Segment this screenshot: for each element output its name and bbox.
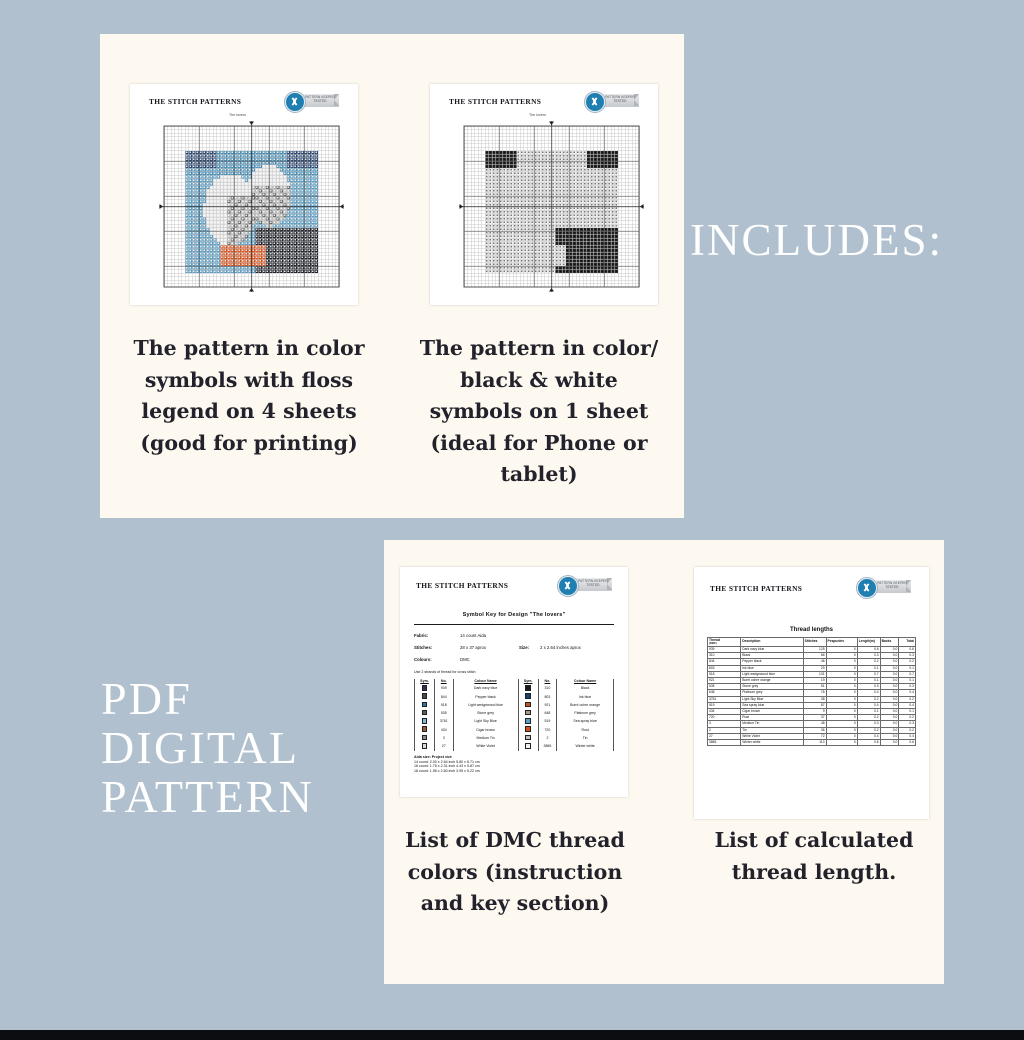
pattern-keeper-tested-badge: PATTERN KEEPERTESTED xyxy=(558,576,612,594)
badge-x-icon xyxy=(585,92,605,112)
poster-stage: THE STITCH PATTERNS PATTERN KEEPERTESTED… xyxy=(0,0,1024,1040)
pdf-line-1: PDF xyxy=(101,674,314,723)
tl-total: 0.6 xyxy=(899,740,916,746)
key-symbol xyxy=(518,685,538,693)
table-row: 939Dark navy blue310Black xyxy=(415,685,614,693)
spec-value-colours: DMC xyxy=(460,657,470,662)
thread-lengths-table: Thread(DMC)DescriptionStitchesPespunlesL… xyxy=(707,637,916,746)
table-row: 518Light wedgewood blue921Burnt ochre or… xyxy=(415,701,614,709)
key-number: 2 xyxy=(538,734,557,742)
tl-pespunles: 0 xyxy=(826,740,857,746)
key-colour-name: Light wedgewood blue xyxy=(453,701,518,709)
symbol-key-table: Sym.No.Colour NameSym.No.Colour Name939D… xyxy=(414,679,614,751)
badge-line2: TESTED xyxy=(885,585,898,589)
sheet-thread-lengths[interactable]: THE STITCH PATTERNS PATTERN KEEPERTESTED… xyxy=(694,567,929,819)
chart-caption: The lovers xyxy=(229,113,246,117)
bw-symbol-chart xyxy=(455,119,645,299)
key-number: 844 xyxy=(434,693,453,701)
spec-label-colours: Colours: xyxy=(414,657,432,662)
sheet-brand-title: THE STITCH PATTERNS xyxy=(416,581,508,590)
table-row: 844Pepper black803Ink blue xyxy=(415,693,614,701)
badge-x-icon xyxy=(857,578,877,598)
chart-caption: The lovers xyxy=(529,113,546,117)
key-symbol xyxy=(415,710,435,718)
spec-label-stitches: Stitches: xyxy=(414,645,432,650)
key-symbol xyxy=(518,701,538,709)
key-number: 939 xyxy=(434,685,453,693)
badge-line1: PATTERN KEEPER xyxy=(578,579,608,583)
key-colour-name: Tin xyxy=(557,734,614,742)
strands-note: Use 2 strands of thread for cross stitch xyxy=(414,670,476,675)
pdf-line-3: PATTERN xyxy=(101,772,314,821)
includes-heading: INCLUDES: xyxy=(690,214,943,266)
spec-value-size: 2 x 2.64 inches aprox xyxy=(540,645,581,650)
key-symbol xyxy=(415,693,435,701)
sheet-bw-symbols[interactable]: THE STITCH PATTERNS PATTERN KEEPERTESTED… xyxy=(430,84,658,305)
key-colour-name: Sea spray blue xyxy=(557,718,614,726)
key-number: 921 xyxy=(538,701,557,709)
key-colour-name: Rust xyxy=(557,726,614,734)
sheet-symbol-key[interactable]: THE STITCH PATTERNS PATTERN KEEPERTESTED… xyxy=(400,567,628,797)
tl-col-header: Description xyxy=(741,638,803,647)
key-colour-name: Dark navy blue xyxy=(453,685,518,693)
key-colour-name: Medium Tin xyxy=(453,734,518,742)
key-colour-name: Light Sky Blue xyxy=(453,718,518,726)
tl-stitches: 110 xyxy=(803,740,826,746)
caption-card-3: List of DMC thread colors (instruction a… xyxy=(392,825,638,920)
table-row: 3865Winter white11000.60.00.6 xyxy=(708,740,916,746)
key-number: 519 xyxy=(538,718,557,726)
table-row: 434Cigar brown720Rust xyxy=(415,726,614,734)
key-symbol xyxy=(518,693,538,701)
key-number: 3761 xyxy=(434,718,453,726)
key-number: 434 xyxy=(434,726,453,734)
footer-bar xyxy=(0,1030,1024,1040)
sheet-brand-title: THE STITCH PATTERNS xyxy=(149,97,241,106)
pdf-line-2: DIGITAL xyxy=(101,723,314,772)
key-number: 803 xyxy=(538,693,557,701)
spec-value-stitches: 28 x 37 aprox xyxy=(460,645,486,650)
key-symbol xyxy=(415,701,435,709)
caption-card-1: The pattern in color symbols with floss … xyxy=(130,333,368,459)
aida-size-line: 16 count: 1.75 x 2.31 inch 4.43 x 5.87 c… xyxy=(414,764,480,768)
aida-size-line: 18 count: 1.56 x 2.60 inch 3.95 x 5.22 c… xyxy=(414,769,480,773)
key-colour-name: Platinum grey xyxy=(557,710,614,718)
pattern-keeper-tested-badge: PATTERN KEEPERTESTED xyxy=(285,92,339,110)
key-colour-name: Burnt ochre orange xyxy=(557,701,614,709)
key-symbol xyxy=(415,734,435,742)
tl-thread: 3865 xyxy=(708,740,741,746)
table-row: 535Stone grey648Platinum grey xyxy=(415,710,614,718)
tl-col-header: Backs xyxy=(880,638,899,647)
key-symbol xyxy=(518,718,538,726)
spec-label-size: Size: xyxy=(519,645,529,650)
badge-line1: PATTERN KEEPER xyxy=(305,95,335,99)
badge-line1: PATTERN KEEPER xyxy=(877,581,907,585)
tl-backs: 0.0 xyxy=(880,740,899,746)
badge-line2: TESTED xyxy=(313,99,326,103)
key-number: 310 xyxy=(538,685,557,693)
tl-col-header: Thread(DMC) xyxy=(708,638,741,647)
key-colour-name: Pepper black xyxy=(453,693,518,701)
badge-x-icon xyxy=(285,92,305,112)
key-symbol xyxy=(518,743,538,751)
key-colour-name: Winter white xyxy=(557,743,614,751)
sheet-brand-title: THE STITCH PATTERNS xyxy=(710,584,802,593)
table-row: 3761Light Sky Blue519Sea spray blue xyxy=(415,718,614,726)
sheet-brand-title: THE STITCH PATTERNS xyxy=(449,97,541,106)
tl-col-header: Pespunles xyxy=(826,638,857,647)
key-colour-name: Cigar brown xyxy=(453,726,518,734)
key-symbol xyxy=(415,685,435,693)
tl-col-header: Stitches xyxy=(803,638,826,647)
thread-lengths-title: Thread lengths xyxy=(694,627,929,633)
key-number: 3865 xyxy=(538,743,557,751)
badge-line2: TESTED xyxy=(586,583,599,587)
pattern-keeper-tested-badge: PATTERN KEEPERTESTED xyxy=(585,92,639,110)
aida-size-line: 14 count: 2.00 x 2.64 inch 5.80 x 6.71 c… xyxy=(414,760,480,764)
spec-label-fabric: Fabric: xyxy=(414,633,428,638)
pdf-digital-pattern-heading: PDF DIGITAL PATTERN xyxy=(101,674,314,821)
key-symbol xyxy=(518,710,538,718)
key-symbol xyxy=(518,734,538,742)
caption-card-4: List of calculated thread length. xyxy=(688,825,940,888)
key-symbol xyxy=(415,743,435,751)
pattern-keeper-tested-badge: PATTERN KEEPERTESTED xyxy=(857,578,911,596)
color-symbol-chart xyxy=(155,119,345,299)
key-colour-name: Stone grey xyxy=(453,710,518,718)
key-colour-name: Black xyxy=(557,685,614,693)
caption-card-2: The pattern in color/ black & white symb… xyxy=(414,333,664,491)
divider-top xyxy=(414,624,614,625)
key-symbol xyxy=(415,726,435,734)
tl-length: 0.6 xyxy=(857,740,880,746)
key-number: 648 xyxy=(538,710,557,718)
key-symbol xyxy=(518,726,538,734)
tl-description: Winter white xyxy=(741,740,803,746)
sheet-color-symbols[interactable]: THE STITCH PATTERNS PATTERN KEEPERTESTED… xyxy=(130,84,358,305)
badge-line2: TESTED xyxy=(613,99,626,103)
key-symbol xyxy=(415,718,435,726)
key-colour-name: White Violet xyxy=(453,743,518,751)
key-number: 518 xyxy=(434,701,453,709)
badge-x-icon xyxy=(558,576,578,596)
tl-col-header: Total xyxy=(899,638,916,647)
symbol-key-heading: Symbol Key for Design "The lovers" xyxy=(400,612,628,618)
aida-size-title: Aida size: Project size xyxy=(414,755,452,759)
table-row: 27White Violet3865Winter white xyxy=(415,743,614,751)
key-number: 535 xyxy=(434,710,453,718)
key-number: 720 xyxy=(538,726,557,734)
spec-value-fabric: 14 count Aida xyxy=(460,633,486,638)
table-row: 3Medium Tin2Tin xyxy=(415,734,614,742)
tl-col-header: Length(m) xyxy=(857,638,880,647)
badge-line1: PATTERN KEEPER xyxy=(605,95,635,99)
key-number: 27 xyxy=(434,743,453,751)
key-colour-name: Ink blue xyxy=(557,693,614,701)
key-number: 3 xyxy=(434,734,453,742)
